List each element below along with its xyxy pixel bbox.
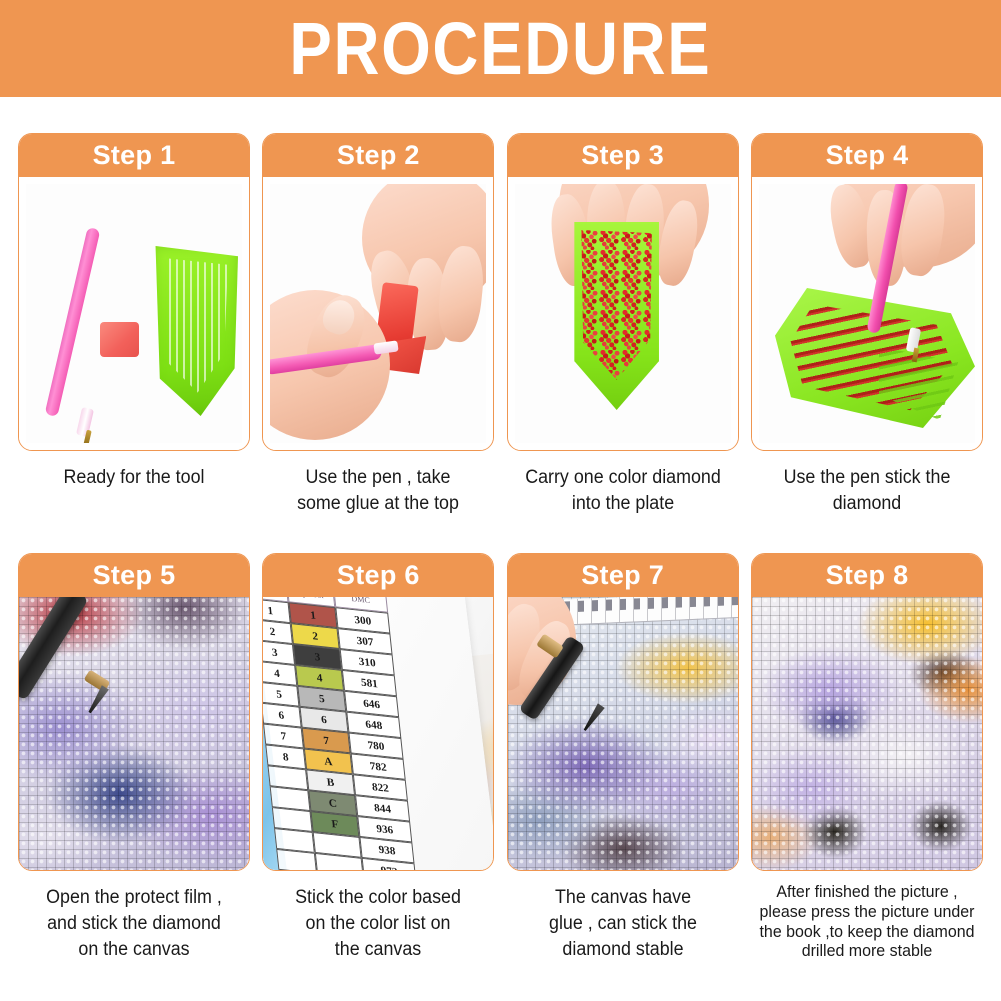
- photo-color-chart: SerialSymbolDMC1130022307333104458155646…: [263, 597, 493, 870]
- step-header-8: Step 8: [752, 554, 982, 597]
- step-caption-4: Use the pen stick the diamond: [758, 465, 976, 516]
- step-header-3: Step 3: [508, 134, 738, 177]
- step-image-6: SerialSymbolDMC1130022307333104458155646…: [263, 597, 493, 870]
- photo-finished-painting: [752, 597, 982, 870]
- step-card-3[interactable]: Step 3: [507, 133, 739, 451]
- step-caption-7: The canvas have glue , can stick the dia…: [514, 885, 732, 962]
- step-cell-7: Step 7 The canvas have glue , can stic: [507, 553, 739, 962]
- photo-tray-with-diamonds: [515, 184, 731, 443]
- pink-pen-icon: [45, 227, 101, 417]
- photo-canvas-with-pen: [19, 597, 249, 870]
- step-cell-6: Step 6 SerialSymbolDMC113002230733310445…: [262, 553, 494, 962]
- color-list-table: SerialSymbolDMC1130022307333104458155646…: [263, 597, 478, 870]
- step-card-1[interactable]: Step 1: [18, 133, 250, 451]
- bead-highlight-icon: [752, 597, 982, 870]
- steps-row-bottom: Step 5 Open the protect film , and stick…: [0, 553, 1001, 962]
- photo-sticking-diamond: [508, 597, 738, 870]
- step-image-2: [263, 177, 493, 450]
- step-cell-4: Step 4 Use the pen stick the diamond: [751, 133, 983, 516]
- photo-pen-picking-diamond: [759, 184, 975, 443]
- step-image-1: [19, 177, 249, 450]
- page-banner: PROCEDURE: [0, 0, 1001, 97]
- step-caption-1: Ready for the tool: [25, 465, 243, 491]
- step-card-2[interactable]: Step 2: [262, 133, 494, 451]
- step-card-8[interactable]: Step 8: [751, 553, 983, 871]
- step-cell-8: Step 8 After finished the picture , plea…: [751, 553, 983, 962]
- step-header-7: Step 7: [508, 554, 738, 597]
- step-cell-5: Step 5 Open the protect film , and stick…: [18, 553, 250, 962]
- step-card-4[interactable]: Step 4: [751, 133, 983, 451]
- photo-tools-layout: [26, 184, 242, 443]
- page-title: PROCEDURE: [289, 12, 711, 86]
- step-header-4: Step 4: [752, 134, 982, 177]
- step-card-5[interactable]: Step 5: [18, 553, 250, 871]
- steps-row-top: Step 1 Ready for the tool Step 2: [0, 133, 1001, 516]
- step-card-6[interactable]: Step 6 SerialSymbolDMC113002230733310445…: [262, 553, 494, 871]
- step-cell-1: Step 1 Ready for the tool: [18, 133, 250, 516]
- step-caption-8: After finished the picture , please pres…: [758, 882, 976, 961]
- step-card-7[interactable]: Step 7: [507, 553, 739, 871]
- step-header-1: Step 1: [19, 134, 249, 177]
- step-header-6: Step 6: [263, 554, 493, 597]
- step-image-7: [508, 597, 738, 870]
- step-cell-3: Step 3 Carry one color diamond into the …: [507, 133, 739, 516]
- step-caption-3: Carry one color diamond into the plate: [514, 465, 732, 516]
- step-caption-5: Open the protect film , and stick the di…: [25, 885, 243, 962]
- step-caption-6: Stick the color based on the color list …: [269, 885, 487, 962]
- step-image-5: [19, 597, 249, 870]
- step-cell-2: Step 2 Use the pen , take some glue at: [262, 133, 494, 516]
- step-header-2: Step 2: [263, 134, 493, 177]
- glue-clay-icon: [100, 322, 139, 357]
- step-image-3: [508, 177, 738, 450]
- step-caption-2: Use the pen , take some glue at the top: [269, 465, 487, 516]
- step-image-4: [752, 177, 982, 450]
- step-header-5: Step 5: [19, 554, 249, 597]
- color-list-serial: 1: [263, 599, 291, 624]
- step-image-8: [752, 597, 982, 870]
- photo-pen-into-glue: [270, 184, 486, 443]
- color-list-serial: [277, 849, 318, 870]
